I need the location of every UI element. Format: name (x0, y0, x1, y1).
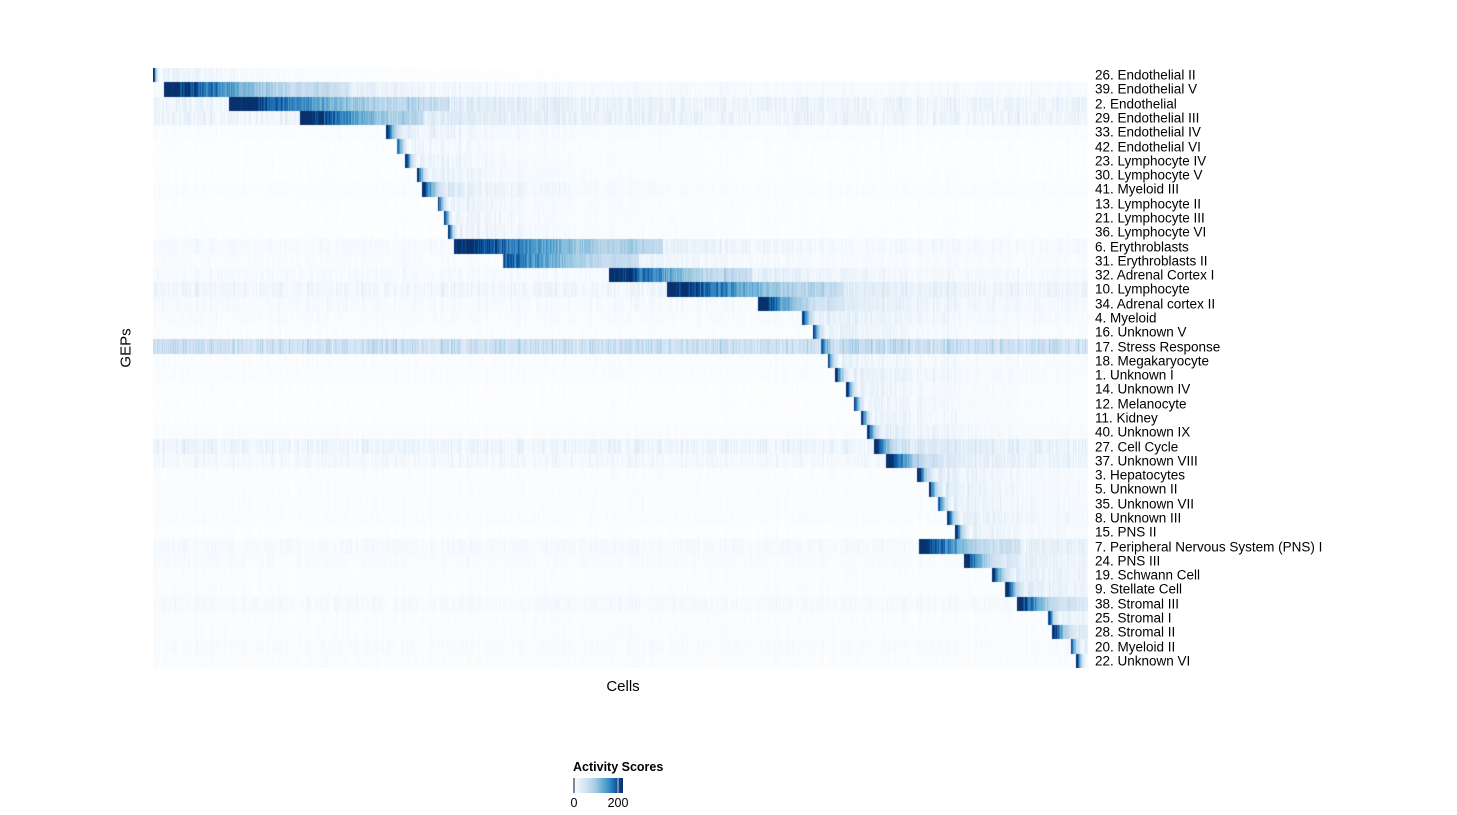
row-label: 19. Schwann Cell (1095, 568, 1200, 582)
colorbar-ticklabel-max: 200 (608, 796, 629, 810)
colorbar-title: Activity Scores (573, 760, 663, 774)
row-label-list: 26. Endothelial II39. Endothelial V2. En… (1095, 68, 1445, 668)
colorbar-gradient (573, 778, 623, 793)
row-label: 33. Endothelial IV (1095, 126, 1201, 140)
row-label: 38. Stromal III (1095, 597, 1179, 611)
row-label: 41. Myeloid III (1095, 183, 1179, 197)
row-label: 34. Adrenal cortex II (1095, 297, 1215, 311)
row-label: 12. Melanocyte (1095, 397, 1187, 411)
heatmap-canvas[interactable] (153, 68, 1088, 668)
row-label: 23. Lymphocyte IV (1095, 154, 1206, 168)
row-label: 13. Lymphocyte II (1095, 197, 1201, 211)
row-label: 5. Unknown II (1095, 483, 1178, 497)
row-label: 27. Cell Cycle (1095, 440, 1178, 454)
row-label: 2. Endothelial (1095, 97, 1177, 111)
row-label: 32. Adrenal Cortex I (1095, 268, 1214, 282)
row-label: 24. PNS III (1095, 554, 1160, 568)
row-label: 21. Lymphocyte III (1095, 211, 1205, 225)
row-label: 28. Stromal II (1095, 626, 1175, 640)
row-label: 42. Endothelial VI (1095, 140, 1201, 154)
row-label: 17. Stress Response (1095, 340, 1220, 354)
row-label: 4. Myeloid (1095, 311, 1157, 325)
row-label: 18. Megakaryocyte (1095, 354, 1209, 368)
row-label: 16. Unknown V (1095, 326, 1187, 340)
heatmap-figure: GEPs Cells 26. Endothelial II39. Endothe… (0, 0, 1457, 815)
row-label: 10. Lymphocyte (1095, 283, 1190, 297)
row-label: 37. Unknown VIII (1095, 454, 1198, 468)
row-label: 7. Peripheral Nervous System (PNS) I (1095, 540, 1322, 554)
row-label: 15. PNS II (1095, 526, 1157, 540)
row-label: 22. Unknown VI (1095, 654, 1190, 668)
row-label: 8. Unknown III (1095, 511, 1181, 525)
row-label: 35. Unknown VII (1095, 497, 1194, 511)
colorbar-tick-max (617, 778, 619, 793)
row-label: 25. Stromal I (1095, 611, 1172, 625)
colorbar-tick-min (573, 778, 575, 793)
y-axis-label: GEPs (118, 328, 135, 367)
row-label: 20. Myeloid II (1095, 640, 1175, 654)
row-label: 1. Unknown I (1095, 368, 1174, 382)
row-label: 36. Lymphocyte VI (1095, 226, 1206, 240)
row-label: 11. Kidney (1095, 411, 1158, 425)
row-label: 39. Endothelial V (1095, 83, 1197, 97)
row-label: 14. Unknown IV (1095, 383, 1190, 397)
row-label: 31. Erythroblasts II (1095, 254, 1208, 268)
row-label: 6. Erythroblasts (1095, 240, 1189, 254)
row-label: 26. Endothelial II (1095, 68, 1196, 82)
row-label: 9. Stellate Cell (1095, 583, 1182, 597)
heatmap-plot-area[interactable] (153, 68, 1088, 668)
row-label: 40. Unknown IX (1095, 426, 1190, 440)
colorbar-ticklabel-min: 0 (571, 796, 578, 810)
row-label: 30. Lymphocyte V (1095, 168, 1203, 182)
row-label: 3. Hepatocytes (1095, 468, 1185, 482)
row-label: 29. Endothelial III (1095, 111, 1199, 125)
x-axis-label: Cells (606, 678, 639, 695)
